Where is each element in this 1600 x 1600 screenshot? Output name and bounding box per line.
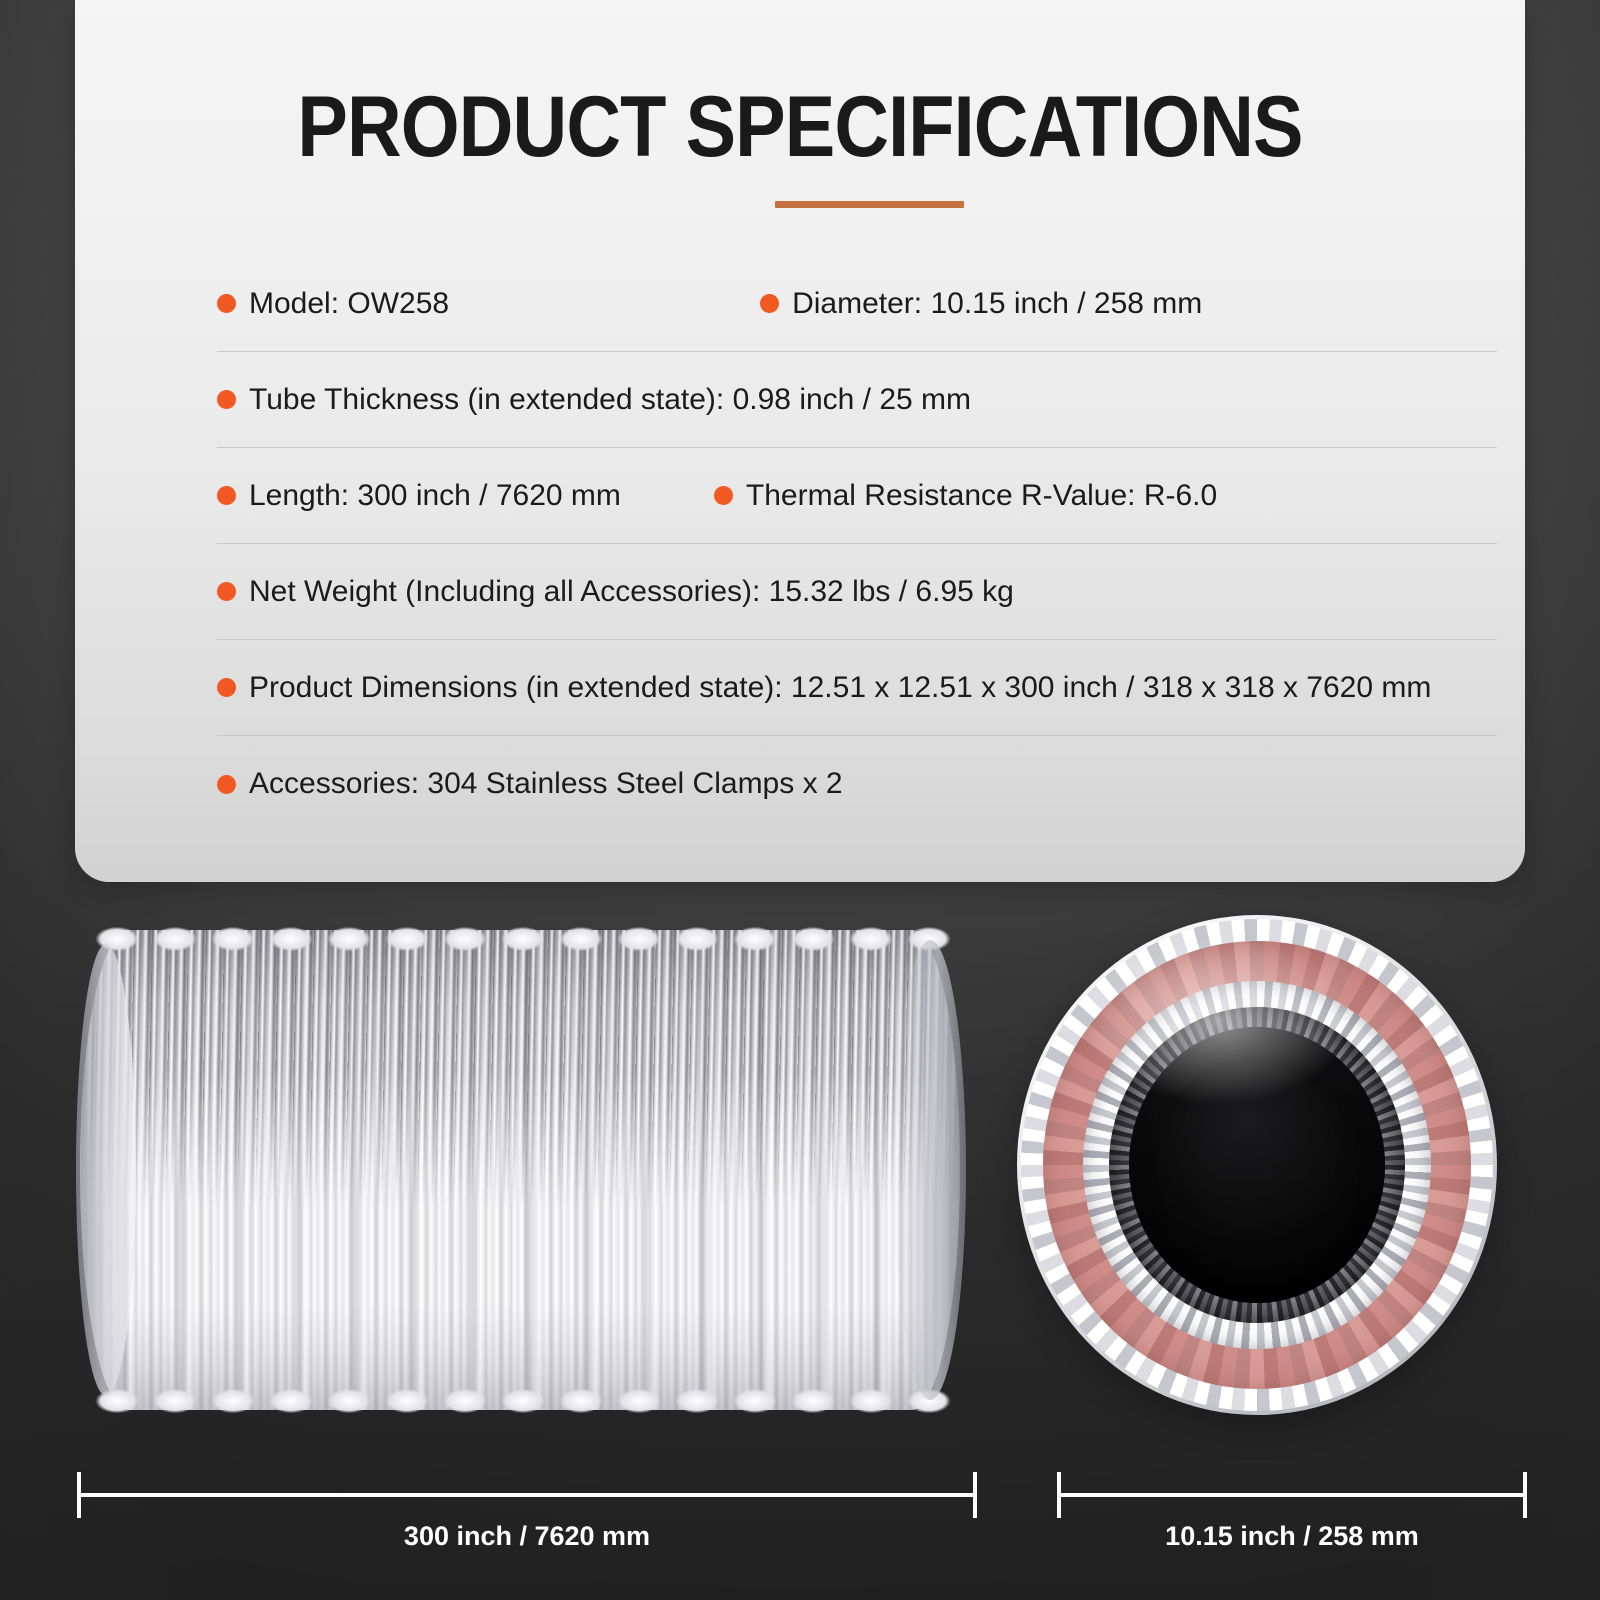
dimension-label-length: 300 inch / 7620 mm [77, 1521, 977, 1552]
dimension-tick-end [1523, 1472, 1527, 1518]
spec-label-accessories: Accessories: 304 Stainless Steel Clamps … [249, 767, 843, 801]
bullet-icon [217, 390, 236, 409]
dimension-label-diameter: 10.15 inch / 258 mm [1057, 1521, 1527, 1552]
dimension-rule [77, 1493, 977, 1497]
specifications-panel: PRODUCT SPECIFICATIONS Model: OW258 Diam… [75, 0, 1525, 882]
spec-label-model: Model: OW258 [249, 287, 449, 321]
spec-item-diameter: Diameter: 10.15 inch / 258 mm [760, 287, 1202, 321]
duct-roll-foil-sheen [80, 930, 960, 1208]
spec-item-tube-thickness: Tube Thickness (in extended state): 0.98… [217, 383, 971, 417]
spec-item-net-weight: Net Weight (Including all Accessories): … [217, 575, 1014, 609]
spec-label-length: Length: 300 inch / 7620 mm [249, 479, 621, 513]
spec-row: Model: OW258 Diameter: 10.15 inch / 258 … [217, 256, 1497, 352]
bullet-icon [217, 294, 236, 313]
spec-label-net-weight: Net Weight (Including all Accessories): … [249, 575, 1014, 609]
dimension-rule [1057, 1493, 1527, 1497]
spec-label-thermal-resistance: Thermal Resistance R-Value: R-6.0 [746, 479, 1217, 513]
dimension-tick-end [973, 1472, 977, 1518]
page-title: PRODUCT SPECIFICATIONS [162, 84, 1438, 170]
product-image-area [0, 900, 1600, 1460]
title-accent-underline [775, 201, 964, 208]
spec-label-product-dimensions: Product Dimensions (in extended state): … [249, 671, 1431, 705]
specifications-list: Model: OW258 Diameter: 10.15 inch / 258 … [217, 256, 1497, 832]
spec-row: Length: 300 inch / 7620 mm Thermal Resis… [217, 448, 1497, 544]
product-photo-duct-roll [80, 930, 960, 1410]
spec-label-tube-thickness: Tube Thickness (in extended state): 0.98… [249, 383, 971, 417]
duct-roll-top-edge [88, 922, 952, 956]
duct-bore-interior [1129, 1027, 1385, 1303]
bullet-icon [714, 486, 733, 505]
bullet-icon [760, 294, 779, 313]
duct-roll-right-cap [894, 940, 966, 1400]
spec-item-model: Model: OW258 [217, 287, 449, 321]
bullet-icon [217, 582, 236, 601]
bullet-icon [217, 775, 236, 794]
bullet-icon [217, 678, 236, 697]
spec-item-thermal-resistance: Thermal Resistance R-Value: R-6.0 [714, 479, 1217, 513]
spec-row: Tube Thickness (in extended state): 0.98… [217, 352, 1497, 448]
spec-item-product-dimensions: Product Dimensions (in extended state): … [217, 671, 1431, 705]
product-photo-duct-cross-section [1017, 915, 1497, 1415]
spec-item-length: Length: 300 inch / 7620 mm [217, 479, 621, 513]
spec-item-accessories: Accessories: 304 Stainless Steel Clamps … [217, 767, 843, 801]
spec-label-diameter: Diameter: 10.15 inch / 258 mm [792, 287, 1202, 321]
spec-row: Product Dimensions (in extended state): … [217, 640, 1497, 736]
duct-roll-left-cap [76, 944, 136, 1396]
bullet-icon [217, 486, 236, 505]
spec-row: Net Weight (Including all Accessories): … [217, 544, 1497, 640]
spec-row: Accessories: 304 Stainless Steel Clamps … [217, 736, 1497, 832]
duct-roll-bottom-edge [88, 1384, 952, 1418]
